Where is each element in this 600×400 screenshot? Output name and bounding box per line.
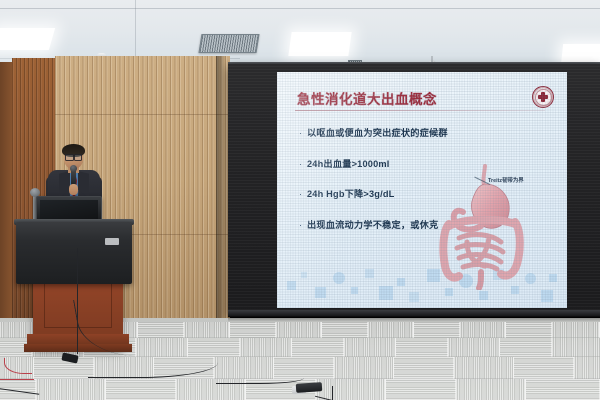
- list-item: · 以呕血或便血为突出症状的症候群: [299, 128, 489, 140]
- microphone-head-icon: [70, 165, 78, 172]
- title-divider: [295, 110, 545, 111]
- ceiling-light-panel: [0, 28, 55, 50]
- glasses-icon: [65, 154, 82, 159]
- bullet-text: 以呕血或便血为突出症状的症候群: [307, 128, 448, 140]
- bullet-marker: ·: [299, 189, 307, 200]
- conference-room-photo: 急性消化道大出血概念 · 以呕血或便血为突出症状的症候群 · 24h出血量>10…: [0, 0, 600, 400]
- av-cable: [332, 386, 356, 400]
- bullet-marker: ·: [299, 159, 307, 170]
- ceiling-light-panel: [288, 32, 351, 56]
- bullet-marker: ·: [299, 220, 307, 231]
- bullet-text: 24h出血量>1000ml: [307, 159, 390, 171]
- slide-title: 急性消化道大出血概念: [297, 88, 437, 108]
- bullet-text: 出现血流动力学不稳定，或休克: [307, 220, 438, 232]
- presentation-slide: 急性消化道大出血概念 · 以呕血或便血为突出症状的症候群 · 24h出血量>10…: [277, 72, 567, 308]
- presenter-hand: [69, 184, 78, 195]
- bullet-marker: ·: [299, 128, 307, 139]
- hospital-emblem-icon: [532, 86, 554, 108]
- screen-floor-shadow: [228, 316, 600, 322]
- av-cable: [216, 372, 304, 384]
- lectern-logo: [105, 238, 119, 245]
- air-vent-grille: [198, 34, 259, 53]
- power-strip[interactable]: [296, 382, 323, 393]
- bullet-text: 24h Hgb下降>3g/dL: [307, 189, 394, 201]
- power-cable: [0, 372, 34, 380]
- lectern-top: [16, 222, 132, 284]
- treitz-annotation: Treitz韧带为界: [488, 176, 524, 184]
